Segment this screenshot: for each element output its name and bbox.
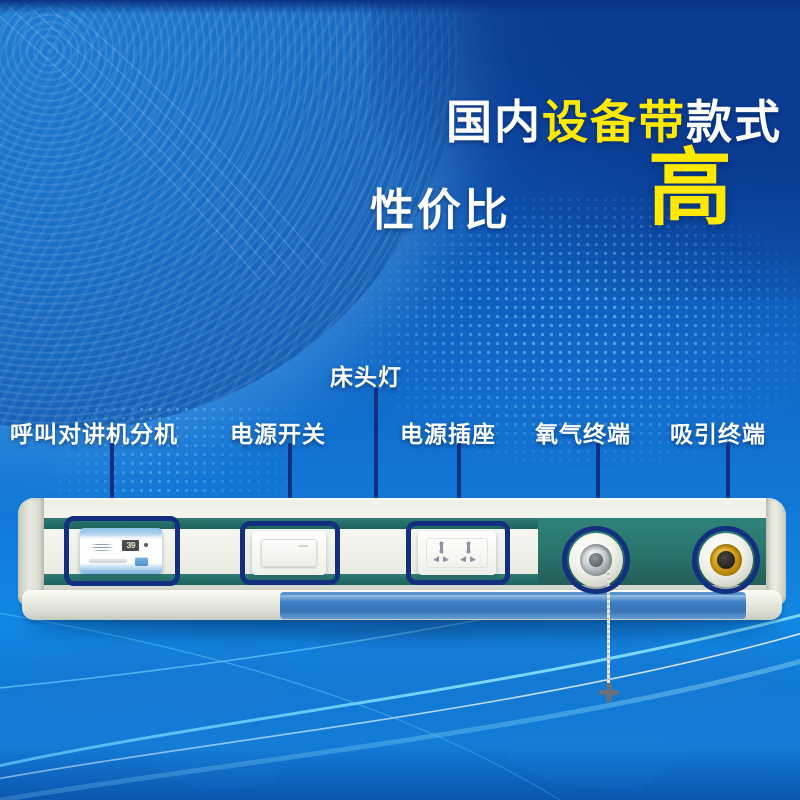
highlight-circle-suction (692, 526, 760, 594)
navy-top-edge (0, 0, 800, 14)
callout-power-socket: 电源插座 (400, 415, 496, 449)
highlight-box-intercom (64, 516, 180, 586)
poster-stage: 国内设备带款式 性价比 高 呼叫对讲机分机 电源开关 床头灯 电源插座 氧气终端… (0, 0, 800, 800)
callout-bed-lamp: 床头灯 (330, 358, 402, 392)
subheadline-emphasis-text: 高 (648, 146, 732, 230)
wire-lines-graphic (0, 0, 380, 310)
halftone-world-map (340, 195, 800, 495)
callout-oxygen-terminal: 氧气终端 (535, 415, 631, 449)
subheadline-value-text: 性价比 (370, 174, 511, 238)
pull-cord-weight-icon[interactable]: ✚ (596, 680, 622, 706)
callout-power-switch: 电源开关 (230, 415, 326, 449)
highlight-box-socket (406, 521, 510, 585)
subheadline-row: 性价比 高 (0, 160, 800, 240)
highlight-box-switch (240, 521, 340, 585)
panel-protective-film (280, 592, 746, 619)
callout-suction-terminal: 吸引终端 (670, 415, 766, 449)
callout-nurse-call-intercom: 呼叫对讲机分机 (10, 415, 178, 449)
headline-part-1: 国内 (446, 96, 542, 148)
highlight-circle-oxygen (562, 526, 630, 594)
bottom-glow (0, 680, 800, 800)
